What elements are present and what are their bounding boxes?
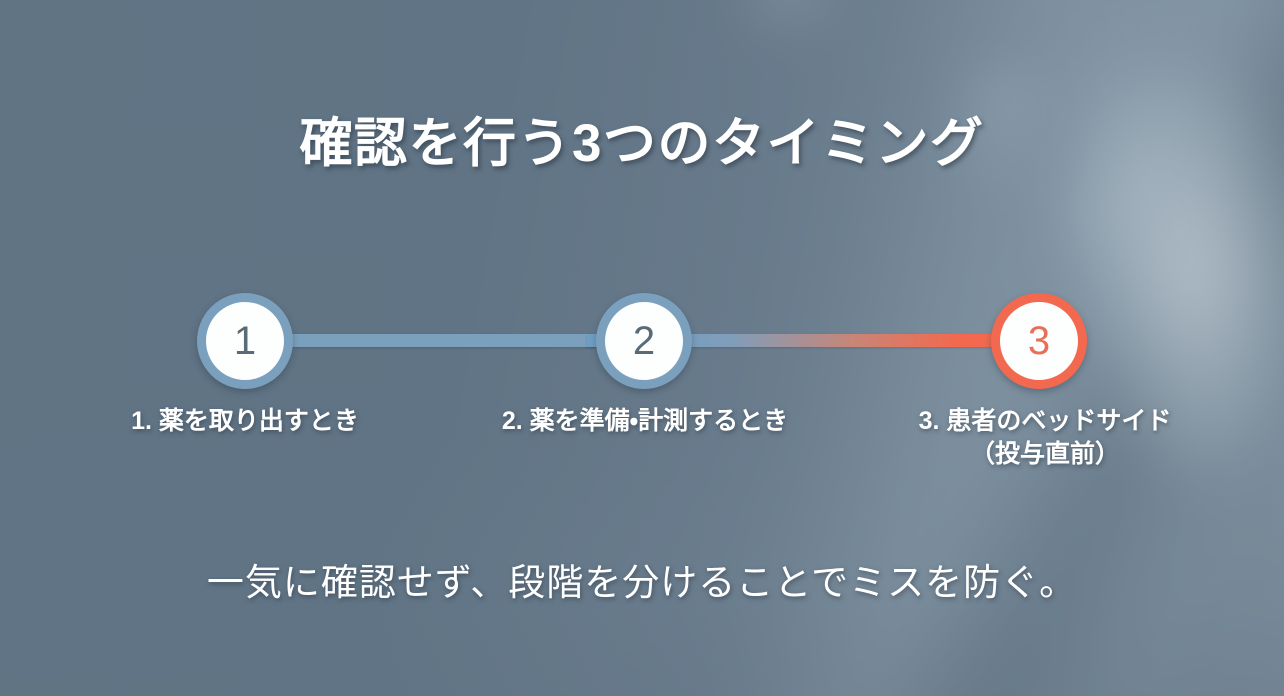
timeline-label-3: 3. 患者のベッドサイド （投与直前） — [845, 405, 1245, 471]
timeline-node-1[interactable]: 1 — [197, 293, 293, 389]
timeline-diagram: 1 2 3 — [197, 293, 1087, 389]
timeline-label-3-line1: 3. 患者のベッドサイド — [845, 405, 1245, 438]
slide-content: 確認を行う3つのタイミング 1 2 3 1. 薬を取り出すとき 2. 薬を準備・… — [0, 0, 1284, 696]
timeline-label-2-line1: 2. 薬を準備・計測するとき — [445, 405, 845, 438]
timeline-node-1-number: 1 — [234, 321, 256, 361]
timeline-node-2-number: 2 — [633, 321, 655, 361]
timeline-label-1-line1: 1. 薬を取り出すとき — [45, 405, 445, 438]
timeline-label-2: 2. 薬を準備・計測するとき — [445, 405, 845, 438]
summary-caption: 一気に確認せず、段階を分けることでミスを防ぐ。 — [0, 552, 1284, 606]
timeline-node-3-number: 3 — [1028, 321, 1050, 361]
timeline-label-1: 1. 薬を取り出すとき — [45, 405, 445, 438]
timeline-node-3[interactable]: 3 — [991, 293, 1087, 389]
slide-canvas: 確認を行う3つのタイミング 1 2 3 1. 薬を取り出すとき 2. 薬を準備・… — [0, 0, 1284, 696]
timeline-connector-1-2 — [287, 334, 607, 347]
timeline-node-2[interactable]: 2 — [596, 293, 692, 389]
timeline-label-3-line2: （投与直前） — [845, 438, 1245, 471]
page-title: 確認を行う3つのタイミング — [0, 101, 1284, 177]
